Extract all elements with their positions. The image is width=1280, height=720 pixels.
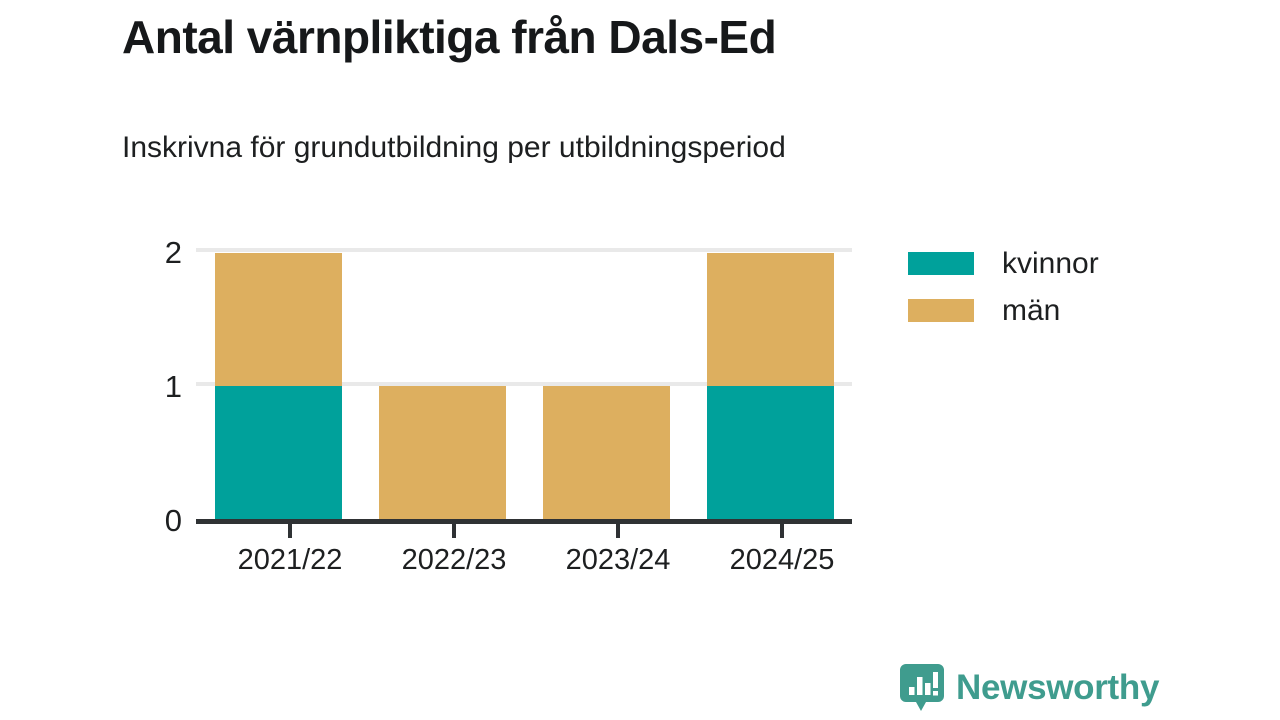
legend-swatch-icon-man	[908, 299, 974, 322]
bars-layer	[196, 253, 852, 519]
chart-legend: kvinnor män	[908, 240, 1208, 334]
legend-item-man[interactable]: män	[908, 287, 1208, 334]
newsworthy-wordmark: Newsworthy	[956, 668, 1159, 708]
page-title: Antal värnpliktiga från Dals-Ed	[122, 8, 1182, 66]
newsworthy-logo: Newsworthy	[899, 663, 1159, 713]
x-axis: 2021/22 2022/23 2023/24 2024/25	[196, 524, 852, 584]
bar-group-2023-24[interactable]	[524, 253, 688, 519]
bar-segment-women[interactable]	[707, 386, 834, 519]
legend-item-kvinnor[interactable]: kvinnor	[908, 240, 1208, 287]
x-tick-slot-2022-23: 2022/23	[374, 524, 534, 577]
newsworthy-bar-chart-bubble-icon	[899, 663, 945, 713]
bar-group-2021-22[interactable]	[196, 253, 360, 519]
x-tick-label: 2022/23	[374, 543, 534, 577]
plot-area	[196, 248, 852, 524]
bar-stack	[543, 386, 670, 519]
legend-label: kvinnor	[1002, 247, 1099, 281]
x-tick-slot-2023-24: 2023/24	[538, 524, 698, 577]
y-tick-label-2: 2	[122, 237, 182, 268]
x-tick-mark	[780, 524, 784, 538]
legend-label: män	[1002, 294, 1060, 328]
bar-group-2022-23[interactable]	[360, 253, 524, 519]
x-tick-label: 2024/25	[702, 543, 862, 577]
bar-segment-men[interactable]	[215, 253, 342, 386]
y-tick-label-0: 0	[122, 505, 182, 536]
bar-stack	[215, 253, 342, 519]
y-tick-label-1: 1	[122, 371, 182, 402]
x-tick-slot-2024-25: 2024/25	[702, 524, 862, 577]
bar-group-2024-25[interactable]	[688, 253, 852, 519]
gridline-2	[196, 248, 852, 252]
legend-swatch-icon-kvinnor	[908, 252, 974, 275]
x-tick-mark	[452, 524, 456, 538]
bar-segment-men[interactable]	[379, 386, 506, 519]
x-tick-mark	[288, 524, 292, 538]
x-tick-label: 2023/24	[538, 543, 698, 577]
bar-segment-women[interactable]	[215, 386, 342, 519]
x-tick-label: 2021/22	[210, 543, 370, 577]
x-tick-mark	[616, 524, 620, 538]
x-tick-slot-2021-22: 2021/22	[210, 524, 370, 577]
bar-segment-men[interactable]	[543, 386, 670, 519]
chart-subtitle: Inskrivna för grundutbildning per utbild…	[122, 126, 1182, 170]
bar-segment-men[interactable]	[707, 253, 834, 386]
bar-stack	[707, 253, 834, 519]
bar-stack	[379, 386, 506, 519]
